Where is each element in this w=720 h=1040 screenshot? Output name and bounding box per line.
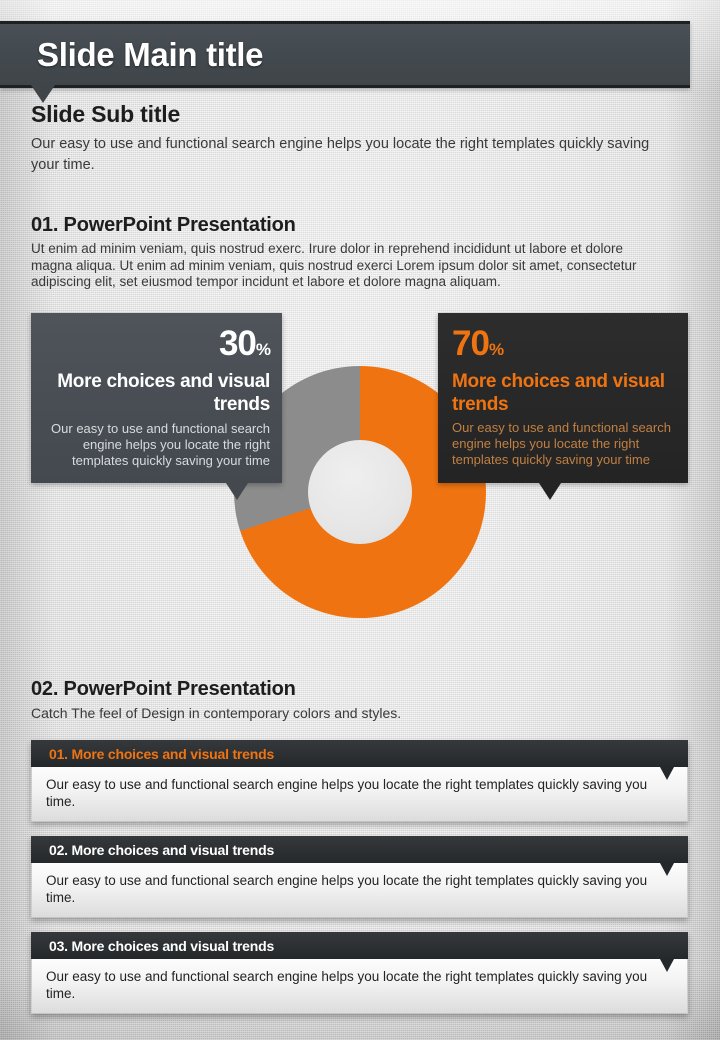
list-item-header[interactable]: 03. More choices and visual trends bbox=[31, 932, 688, 959]
sub-title-description: Our easy to use and functional search en… bbox=[31, 134, 671, 176]
callout-left-content: 30% More choices and visual trends Our e… bbox=[31, 313, 282, 469]
callout-right-title: More choices and visual trends bbox=[452, 370, 674, 416]
list-item[interactable]: 02. More choices and visual trends Our e… bbox=[31, 836, 688, 918]
callout-left-title: More choices and visual trends bbox=[45, 370, 270, 416]
list-item-header[interactable]: 02. More choices and visual trends bbox=[31, 836, 688, 863]
list-item-heading: 01. More choices and visual trends bbox=[49, 746, 274, 762]
list-item-pointer-icon bbox=[660, 767, 674, 780]
list-item-body: Our easy to use and functional search en… bbox=[31, 767, 688, 822]
list-item-pointer-icon bbox=[660, 959, 674, 972]
list-item-header[interactable]: 01. More choices and visual trends bbox=[31, 740, 688, 767]
callout-box-30: 30% More choices and visual trends Our e… bbox=[31, 313, 282, 483]
list-item-heading: 03. More choices and visual trends bbox=[49, 938, 274, 954]
callout-left-description: Our easy to use and functional search en… bbox=[45, 421, 270, 469]
list-item-pointer-icon bbox=[660, 863, 674, 876]
section-one-body: Ut enim ad minim veniam, quis nostrud ex… bbox=[31, 241, 651, 291]
list-item-body: Our easy to use and functional search en… bbox=[31, 959, 688, 1014]
callout-right-content: 70% More choices and visual trends Our e… bbox=[438, 313, 688, 468]
sub-title: Slide Sub title bbox=[31, 101, 180, 128]
callout-box-70: 70% More choices and visual trends Our e… bbox=[438, 313, 688, 483]
page-title: Slide Main title bbox=[37, 36, 263, 74]
section-two-title: 02. PowerPoint Presentation bbox=[31, 678, 296, 701]
list-item[interactable]: 03. More choices and visual trends Our e… bbox=[31, 932, 688, 1014]
callout-right-pointer-icon bbox=[539, 483, 561, 500]
donut-hole bbox=[308, 440, 412, 544]
main-title-bar: Slide Main title bbox=[0, 21, 690, 88]
section-two-body: Catch The feel of Design in contemporary… bbox=[31, 704, 401, 722]
callout-left-pointer-icon bbox=[226, 483, 248, 500]
callout-right-value: 70% bbox=[452, 324, 674, 370]
callout-right-description: Our easy to use and functional search en… bbox=[452, 420, 674, 468]
callout-left-value: 30% bbox=[45, 324, 270, 370]
list-item[interactable]: 01. More choices and visual trends Our e… bbox=[31, 740, 688, 822]
list-item-body: Our easy to use and functional search en… bbox=[31, 863, 688, 918]
section-one-title: 01. PowerPoint Presentation bbox=[31, 214, 296, 237]
list-item-heading: 02. More choices and visual trends bbox=[49, 842, 274, 858]
